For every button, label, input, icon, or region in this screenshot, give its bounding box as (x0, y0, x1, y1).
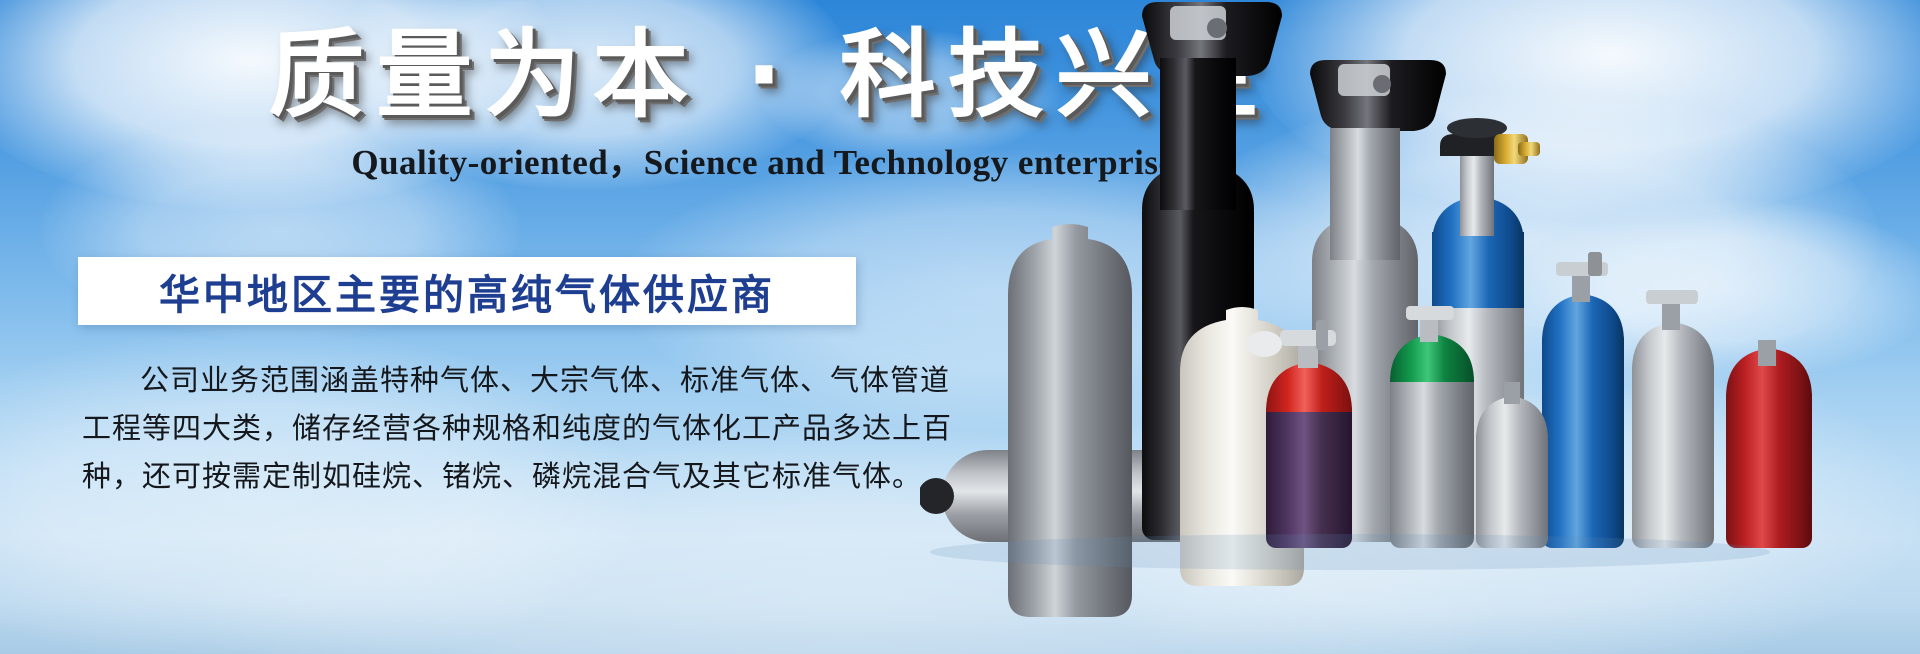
aluminium-cylinder (1632, 290, 1714, 548)
gas-cylinder-group-image: □ 力 (920, 0, 1920, 654)
red-cylinder (1726, 340, 1812, 548)
blue-cylinder (1542, 252, 1624, 548)
promo-banner: 质量为本 · 科技兴企 Quality-oriented，Science and… (0, 0, 1920, 654)
description-line: 工程等四大类，储存经营各种规格和纯度的气体化工产品多达上百 (82, 404, 882, 452)
banner-description: 公司业务范围涵盖特种气体、大宗气体、标准气体、气体管道 工程等四大类，储存经营各… (82, 356, 882, 500)
tagline-box: 华中地区主要的高纯气体供应商 (78, 257, 856, 325)
description-line: 种，还可按需定制如硅烷、锗烷、磷烷混合气及其它标准气体。 (82, 452, 882, 500)
tagline-text: 华中地区主要的高纯气体供应商 (159, 261, 775, 321)
description-line: 公司业务范围涵盖特种气体、大宗气体、标准气体、气体管道 (82, 356, 882, 404)
